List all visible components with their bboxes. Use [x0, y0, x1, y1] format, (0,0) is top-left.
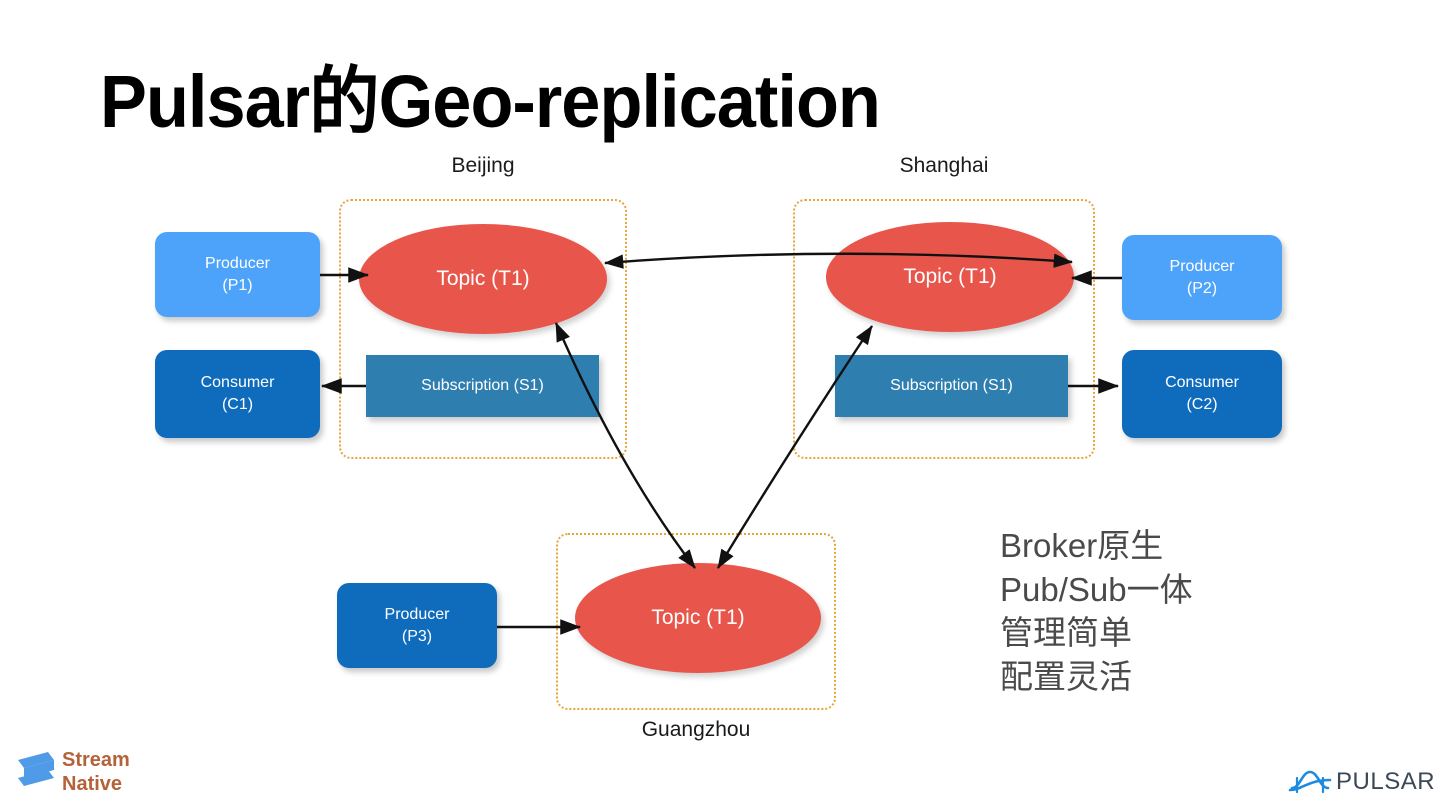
consumer-c2-label-line1: Consumer	[1165, 372, 1239, 394]
region-label-guangzhou: Guangzhou	[556, 718, 836, 742]
feature-item-0: Broker原生	[1000, 524, 1193, 568]
streamnative-wordmark-line2: Native	[62, 773, 130, 797]
topic-t1-beijing[interactable]: Topic (T1)	[359, 224, 607, 334]
producer-p3-box[interactable]: Producer (P3)	[337, 583, 497, 668]
region-label-beijing: Beijing	[339, 154, 627, 178]
pulsar-logo: PULSAR	[1288, 766, 1430, 798]
consumer-c1-label-line2: (C1)	[222, 394, 253, 416]
pulsar-wordmark: PULSAR	[1336, 768, 1435, 796]
pulsar-wave-icon	[1288, 766, 1332, 796]
producer-p1-box[interactable]: Producer (P1)	[155, 232, 320, 317]
topic-t1-guangzhou[interactable]: Topic (T1)	[575, 563, 821, 673]
consumer-c1-box[interactable]: Consumer (C1)	[155, 350, 320, 438]
feature-item-2: 管理简单	[1000, 611, 1193, 655]
feature-item-1: Pub/Sub一体	[1000, 568, 1193, 612]
producer-p2-box[interactable]: Producer (P2)	[1122, 235, 1282, 320]
producer-p2-label-line2: (P2)	[1187, 278, 1217, 300]
slide-canvas: Pulsar的Geo-replication Beijing Shanghai …	[0, 0, 1440, 810]
region-label-shanghai: Shanghai	[793, 154, 1095, 178]
consumer-c2-box[interactable]: Consumer (C2)	[1122, 350, 1282, 438]
subscription-s1-beijing-label: Subscription (S1)	[421, 377, 544, 395]
feature-item-3: 配置灵活	[1000, 655, 1193, 699]
streamnative-logo: Stream Native	[14, 748, 174, 800]
producer-p3-label-line2: (P3)	[402, 626, 432, 648]
producer-p1-label-line2: (P1)	[222, 275, 252, 297]
subscription-s1-shanghai-label: Subscription (S1)	[890, 377, 1013, 395]
topic-t1-beijing-label: Topic (T1)	[436, 267, 529, 291]
feature-list: Broker原生 Pub/Sub一体 管理简单 配置灵活	[1000, 524, 1193, 698]
page-title: Pulsar的Geo-replication	[100, 42, 880, 149]
consumer-c1-label-line1: Consumer	[201, 372, 275, 394]
streamnative-mark-icon	[14, 748, 58, 798]
topic-t1-shanghai-label: Topic (T1)	[903, 265, 996, 289]
consumer-c2-label-line2: (C2)	[1186, 394, 1217, 416]
topic-t1-guangzhou-label: Topic (T1)	[651, 606, 744, 630]
topic-t1-shanghai[interactable]: Topic (T1)	[826, 222, 1074, 332]
streamnative-wordmark-line1: Stream	[62, 749, 130, 773]
streamnative-wordmark: Stream Native	[62, 749, 130, 796]
subscription-s1-shanghai[interactable]: Subscription (S1)	[835, 355, 1068, 417]
producer-p3-label-line1: Producer	[385, 604, 450, 626]
subscription-s1-beijing[interactable]: Subscription (S1)	[366, 355, 599, 417]
producer-p2-label-line1: Producer	[1170, 256, 1235, 278]
producer-p1-label-line1: Producer	[205, 253, 270, 275]
